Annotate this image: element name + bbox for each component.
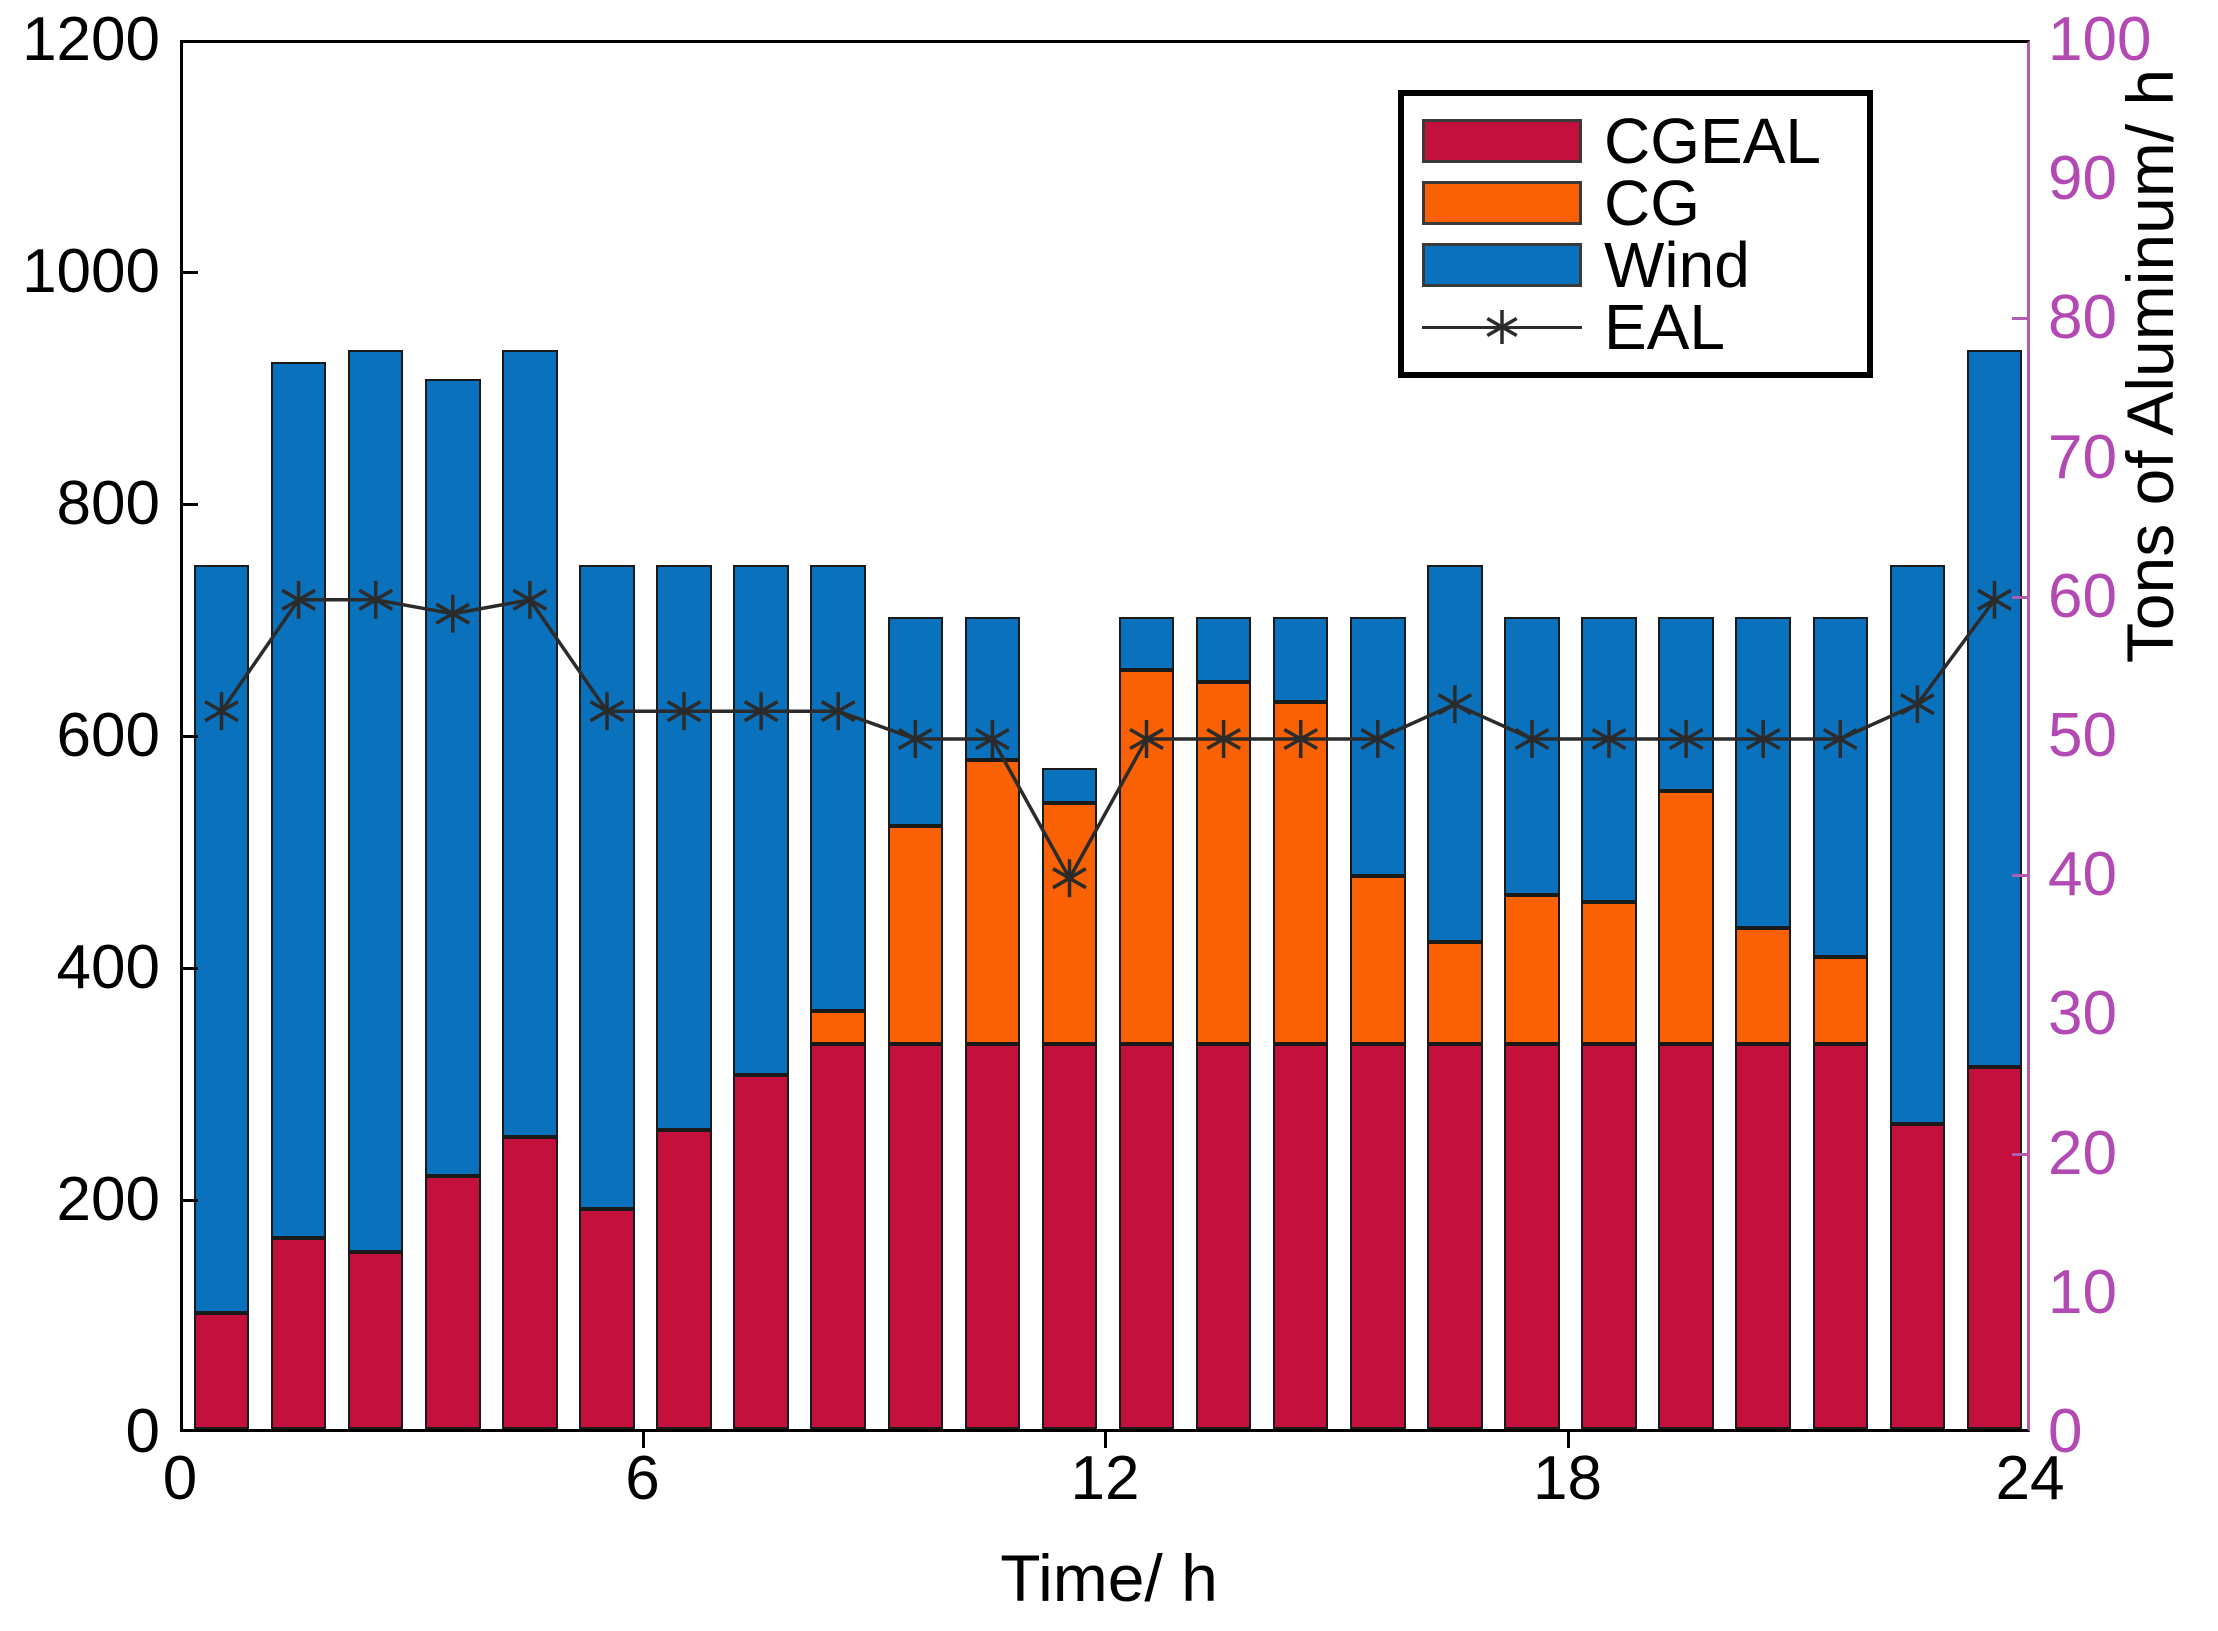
y-axis-left-tickmark — [180, 271, 198, 274]
bar-segment-cgeal — [194, 1313, 250, 1429]
bar-segment-cg — [1581, 902, 1637, 1044]
bar-segment-wind — [733, 565, 789, 1075]
legend-swatch-cg — [1422, 181, 1582, 225]
bar-group[interactable] — [888, 37, 944, 1429]
bar-segment-wind — [579, 565, 635, 1209]
y-axis-left-tickmark — [180, 503, 198, 506]
x-axis-tick-label: 24 — [1996, 1448, 2065, 1510]
bar-segment-wind — [1427, 565, 1483, 942]
bar-segment-cgeal — [733, 1075, 789, 1429]
bar-segment-cgeal — [1581, 1044, 1637, 1429]
bar-segment-wind — [1119, 617, 1175, 670]
y-axis-left-tick-label: 600 — [0, 705, 160, 767]
y-axis-right-tick-label: 20 — [2048, 1123, 2198, 1185]
bar-segment-wind — [1273, 617, 1329, 702]
chart-figure: 020040060080010001200 010203040506070809… — [0, 0, 2218, 1631]
x-axis-tickmark — [642, 1432, 645, 1448]
bar-segment-cg — [1350, 876, 1406, 1044]
y-axis-right-tickmark — [2012, 1153, 2030, 1156]
y-axis-left-tickmark — [180, 967, 198, 970]
bar-segment-cgeal — [425, 1176, 481, 1429]
bar-group[interactable] — [1119, 37, 1175, 1429]
bar-segment-wind — [425, 379, 481, 1176]
bar-segment-wind — [1042, 768, 1098, 803]
bar-group[interactable] — [1967, 37, 2023, 1429]
bar-group[interactable] — [733, 37, 789, 1429]
y-axis-left-tick-label: 1200 — [0, 9, 160, 71]
bar-segment-cgeal — [502, 1137, 558, 1429]
bar-segment-cgeal — [965, 1044, 1021, 1429]
x-axis-tick-label: 0 — [163, 1448, 197, 1510]
bar-group[interactable] — [271, 37, 327, 1429]
y-axis-right-tickmark — [2012, 317, 2030, 320]
bar-segment-cgeal — [1504, 1044, 1560, 1429]
bar-group[interactable] — [194, 37, 250, 1429]
bar-segment-wind — [1735, 617, 1791, 928]
legend-swatch-cgeal — [1422, 119, 1582, 163]
bar-segment-cgeal — [1890, 1124, 1946, 1429]
bar-segment-cg — [1042, 803, 1098, 1044]
legend-line-eal — [1422, 305, 1582, 349]
legend-swatch-wind — [1422, 243, 1582, 287]
bar-group[interactable] — [579, 37, 635, 1429]
bar-segment-cg — [965, 760, 1021, 1044]
y-axis-right-tick-label: 30 — [2048, 983, 2198, 1045]
legend: CGEAL CG Wind EAL — [1398, 90, 1873, 378]
bar-group[interactable] — [1890, 37, 1946, 1429]
legend-label-cgeal: CGEAL — [1604, 109, 1821, 173]
eal-line — [222, 600, 1995, 878]
bar-segment-wind — [1658, 617, 1714, 791]
bar-segment-cg — [1196, 682, 1252, 1044]
bar-segment-cgeal — [1119, 1044, 1175, 1429]
x-axis-tick-label: 6 — [625, 1448, 659, 1510]
bar-segment-wind — [1350, 617, 1406, 876]
bar-segment-wind — [656, 565, 712, 1130]
y-axis-left-tick-label: 0 — [0, 1401, 160, 1463]
bar-group[interactable] — [502, 37, 558, 1429]
legend-asterisk-icon — [1422, 305, 1582, 349]
y-axis-right-tickmark — [2012, 874, 2030, 877]
bar-segment-cg — [1427, 942, 1483, 1044]
bar-group[interactable] — [810, 37, 866, 1429]
y-axis-right-tick-label: 10 — [2048, 1262, 2198, 1324]
bar-segment-wind — [1813, 617, 1869, 957]
bar-group[interactable] — [425, 37, 481, 1429]
legend-item-wind: Wind — [1422, 234, 1849, 296]
bar-segment-cgeal — [1042, 1044, 1098, 1429]
y-axis-left-tickmark — [180, 735, 198, 738]
bar-segment-wind — [1967, 350, 2023, 1067]
legend-label-cg: CG — [1604, 171, 1700, 235]
bar-segment-cg — [1273, 702, 1329, 1044]
bar-segment-cgeal — [1813, 1044, 1869, 1429]
bar-segment-cg — [810, 1011, 866, 1043]
bar-segment-cg — [1658, 791, 1714, 1044]
bar-segment-cgeal — [271, 1238, 327, 1429]
y-axis-right-tick-label: 40 — [2048, 844, 2198, 906]
bar-segment-cgeal — [1658, 1044, 1714, 1429]
bar-segment-wind — [348, 350, 404, 1251]
bar-group[interactable] — [656, 37, 712, 1429]
y-axis-left-tickmark — [180, 1199, 198, 1202]
bar-segment-cgeal — [1196, 1044, 1252, 1429]
x-axis-tickmark — [1567, 1432, 1570, 1448]
bar-segment-cgeal — [810, 1044, 866, 1429]
bar-segment-wind — [1196, 617, 1252, 682]
bar-segment-wind — [965, 617, 1021, 760]
bar-segment-cg — [1119, 670, 1175, 1044]
bar-segment-cg — [888, 826, 944, 1044]
bar-segment-wind — [810, 565, 866, 1012]
bar-segment-cgeal — [1350, 1044, 1406, 1429]
bar-segment-cgeal — [656, 1130, 712, 1429]
y-axis-left-tick-label: 800 — [0, 473, 160, 535]
bar-segment-wind — [888, 617, 944, 826]
bar-segment-cgeal — [579, 1209, 635, 1429]
bar-segment-cgeal — [1427, 1044, 1483, 1429]
y-axis-right-tickmark — [2012, 596, 2030, 599]
bar-segment-wind — [502, 350, 558, 1136]
bar-segment-wind — [1581, 617, 1637, 902]
legend-item-cg: CG — [1422, 172, 1849, 234]
bar-segment-wind — [194, 565, 250, 1313]
bar-segment-wind — [1504, 617, 1560, 895]
bar-segment-wind — [271, 362, 327, 1238]
y-axis-left-tick-label: 200 — [0, 1169, 160, 1231]
bar-segment-cgeal — [888, 1044, 944, 1429]
legend-item-eal: EAL — [1422, 296, 1849, 358]
bar-segment-wind — [1890, 565, 1946, 1124]
x-axis-label: Time/ h — [0, 1540, 2218, 1616]
y-axis-left-tick-label: 1000 — [0, 241, 160, 303]
x-axis-tick-label: 18 — [1533, 1448, 1602, 1510]
y-axis-right-tick-label: 0 — [2048, 1401, 2198, 1463]
legend-label-eal: EAL — [1604, 295, 1725, 359]
bar-group[interactable] — [1196, 37, 1252, 1429]
bar-segment-cg — [1813, 957, 1869, 1044]
y-axis-left-tick-label: 400 — [0, 937, 160, 999]
y-axis-right-label: Tons of Aluminum/ h — [2112, 16, 2188, 716]
bar-segment-cgeal — [1735, 1044, 1791, 1429]
bar-segment-cgeal — [348, 1252, 404, 1429]
legend-label-wind: Wind — [1604, 233, 1750, 297]
x-axis-tick-label: 12 — [1071, 1448, 1140, 1510]
x-axis-tickmark — [1104, 1432, 1107, 1448]
legend-item-cgeal: CGEAL — [1422, 110, 1849, 172]
bar-group[interactable] — [1042, 37, 1098, 1429]
bar-segment-cgeal — [1273, 1044, 1329, 1429]
bar-segment-cgeal — [1967, 1067, 2023, 1429]
bar-segment-cg — [1735, 928, 1791, 1044]
bar-group[interactable] — [965, 37, 1021, 1429]
bar-group[interactable] — [1273, 37, 1329, 1429]
bar-group[interactable] — [348, 37, 404, 1429]
bar-segment-cg — [1504, 895, 1560, 1043]
